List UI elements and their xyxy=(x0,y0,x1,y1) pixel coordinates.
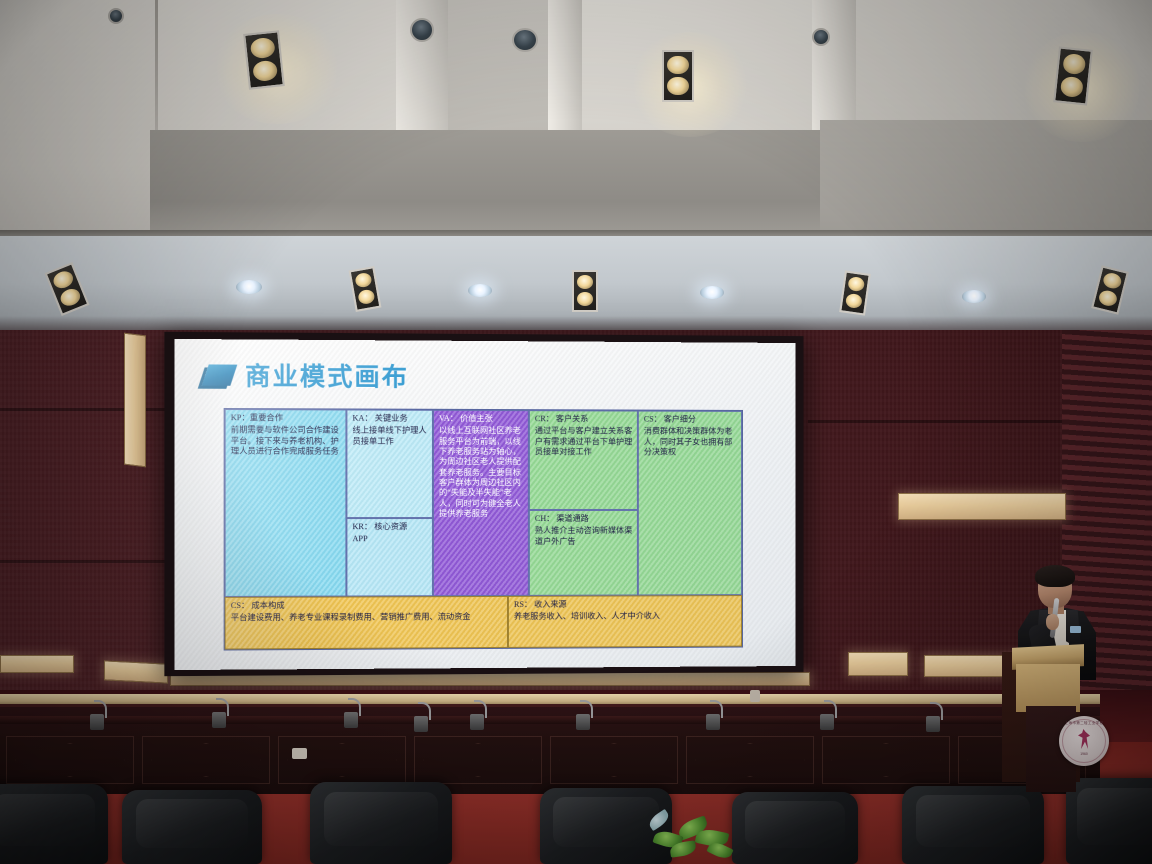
round-downlight xyxy=(962,290,986,303)
parallelogram-icon xyxy=(202,364,238,385)
block-body: 通过平台与客户建立关系客户有需求通过平台下单护理员接单对接工作 xyxy=(535,426,633,457)
institution-logo: 上海市第二轻工业学校 1960 xyxy=(1059,716,1109,766)
wall-trim-horizontal xyxy=(0,655,74,673)
ceiling-dome-light xyxy=(108,8,124,24)
canvas-block-key-partners: KP：重要合作 前期需要与软件公司合作建设平台。接下来与养老机构、护理人员进行合… xyxy=(225,409,347,597)
block-header: RS： 收入来源 xyxy=(514,599,737,610)
gooseneck-microphone[interactable] xyxy=(820,714,834,730)
ceiling-dome-light xyxy=(812,28,830,46)
wall-trim-vertical xyxy=(124,333,146,468)
chair[interactable] xyxy=(902,786,1044,864)
block-body: 以线上互联网社区养老服务平台为前端，以线下养老服务站为轴心，为周边社区老人提供配… xyxy=(439,426,524,519)
business-model-canvas: KP：重要合作 前期需要与软件公司合作建设平台。接下来与养老机构、护理人员进行合… xyxy=(224,408,743,651)
round-downlight xyxy=(468,284,492,297)
table-socket[interactable] xyxy=(750,690,760,702)
wall-trim-horizontal xyxy=(848,652,908,676)
gooseneck-microphone[interactable] xyxy=(212,712,226,728)
canvas-block-customer-relationships: CR： 客户关系 通过平台与客户建立关系客户有需求通过平台下单护理员接单对接工作 xyxy=(529,410,638,510)
chair[interactable] xyxy=(122,790,262,864)
wall-trim-horizontal xyxy=(898,493,1066,520)
canvas-block-revenue-streams: RS： 收入来源 养老服务收入、培训收入、人才中介收入 xyxy=(508,595,742,648)
recessed-downlight xyxy=(1053,46,1093,105)
block-header: KA： 关键业务 xyxy=(352,414,427,425)
canvas-block-customer-segments: CS： 客户细分 消费群体和决策群体为老人，同时其子女也拥有部分决策权 xyxy=(638,411,742,596)
canvas-block-key-activities: KA： 关键业务 线上接单线下护理人员接单工作 xyxy=(346,409,433,518)
chair[interactable] xyxy=(310,782,452,864)
canvas-block-value-proposition: VA： 价值主张 以线上互联网社区养老服务平台为前端，以线下养老服务站为轴心，为… xyxy=(433,410,529,596)
table-panel-motif xyxy=(142,736,270,784)
recessed-downlight xyxy=(243,30,285,89)
block-body: 线上接单线下护理人员接单工作 xyxy=(352,426,427,447)
canvas-column-activities-resources: KA： 关键业务 线上接单线下护理人员接单工作 KR： 核心资源 APP xyxy=(346,409,433,596)
block-header: CH： 渠道通路 xyxy=(535,514,633,524)
canvas-block-channels: CH： 渠道通路 熟人推介主动咨询新媒体渠道户外广告 xyxy=(529,510,638,596)
table-panel-motif xyxy=(822,736,950,784)
ceiling-coffer xyxy=(582,0,814,146)
round-downlight xyxy=(236,280,262,294)
ceiling-dome-light xyxy=(410,18,434,42)
block-header: KR： 核心资源 xyxy=(352,522,427,532)
ceiling-beam xyxy=(548,0,582,140)
block-body: 养老服务收入、培训收入、人才中介收入 xyxy=(514,611,737,622)
table-panel-motif xyxy=(414,736,542,784)
recessed-downlight xyxy=(662,50,694,102)
gooseneck-microphone[interactable] xyxy=(706,714,720,730)
table-socket[interactable] xyxy=(292,748,307,759)
ceiling-coffer xyxy=(0,0,160,235)
canvas-block-key-resources: KR： 核心资源 APP xyxy=(346,518,433,596)
round-downlight xyxy=(700,286,724,299)
block-header: VA： 价值主张 xyxy=(439,414,524,425)
chair[interactable] xyxy=(0,784,108,864)
canvas-block-cost-structure: CS： 成本构成 平台建设费用、养老专业课程录制费用、营销推广费用、流动资金 xyxy=(225,596,508,650)
block-header: CS： 客户细分 xyxy=(644,415,737,426)
lapel-badge xyxy=(1070,626,1081,633)
ceiling-coffer xyxy=(448,0,548,140)
chair[interactable] xyxy=(1066,778,1152,864)
canvas-column-relationships-channels: CR： 客户关系 通过平台与客户建立关系客户有需求通过平台下单护理员接单对接工作… xyxy=(529,410,638,596)
block-header: CS： 成本构成 xyxy=(231,600,503,611)
logo-text: 上海市第二轻工业学校 xyxy=(1059,721,1109,726)
projection-screen[interactable]: 商业模式画布 KP：重要合作 前期需要与软件公司合作建设平台。接下来与养老机构、… xyxy=(175,339,796,670)
table-panel-motif xyxy=(278,736,406,784)
page-title: 商业模式画布 xyxy=(245,357,409,394)
potted-plant xyxy=(648,808,758,864)
block-body: 熟人推介主动咨询新媒体渠道户外广告 xyxy=(535,526,633,547)
table-panel-motif xyxy=(686,736,814,784)
table-panel-motif xyxy=(550,736,678,784)
gooseneck-microphone[interactable] xyxy=(414,716,428,732)
block-body: 前期需要与软件公司合作建设平台。接下来与养老机构、护理人员进行合作完成服务任务 xyxy=(231,426,342,458)
block-header: CR： 客户关系 xyxy=(535,414,633,425)
slide-title-row: 商业模式画布 xyxy=(205,356,409,393)
block-body: 平台建设费用、养老专业课程录制费用、营销推广费用、流动资金 xyxy=(231,612,503,624)
block-header: KP：重要合作 xyxy=(231,413,342,424)
gooseneck-microphone[interactable] xyxy=(344,712,358,728)
table-panel-motif xyxy=(6,736,134,784)
podium-front xyxy=(1016,664,1080,712)
gooseneck-microphone[interactable] xyxy=(576,714,590,730)
gooseneck-microphone[interactable] xyxy=(90,714,104,730)
gooseneck-microphone[interactable] xyxy=(470,714,484,730)
recessed-downlight xyxy=(572,270,598,312)
ceiling-dome-light xyxy=(512,28,538,52)
wall-trim-horizontal xyxy=(104,660,168,683)
logo-year: 1960 xyxy=(1059,752,1109,756)
auditorium-scene: 商业模式画布 KP：重要合作 前期需要与软件公司合作建设平台。接下来与养老机构、… xyxy=(0,0,1152,864)
gooseneck-microphone[interactable] xyxy=(926,716,940,732)
block-body: APP xyxy=(352,534,427,544)
block-body: 消费群体和决策群体为老人，同时其子女也拥有部分决策权 xyxy=(644,427,737,458)
